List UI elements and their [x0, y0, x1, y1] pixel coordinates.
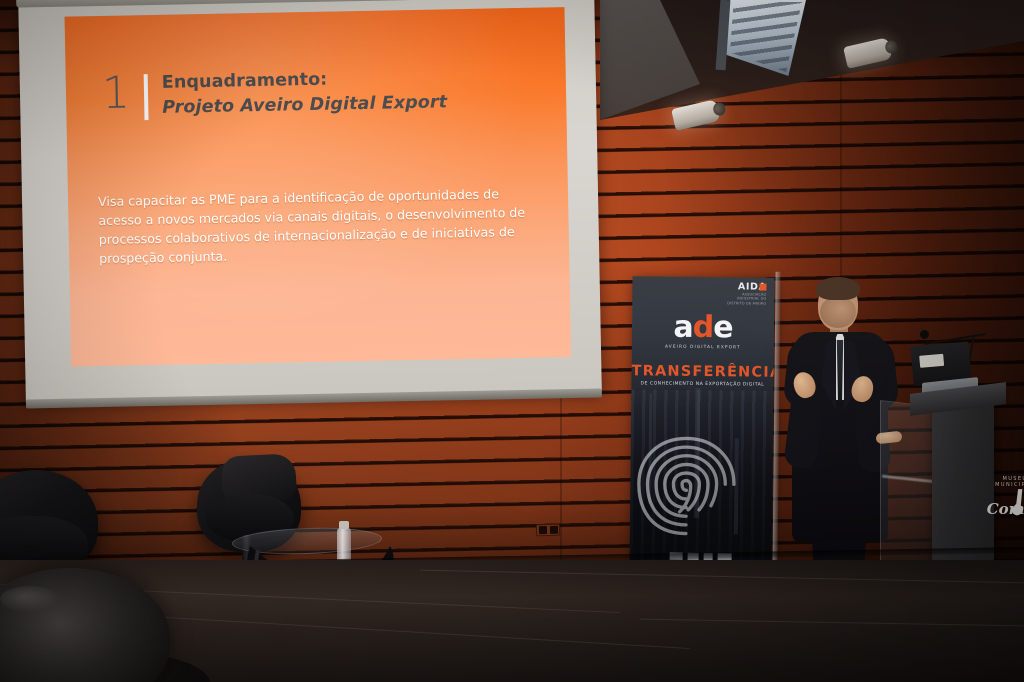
aida-partner-logo: AIDA ASSOCIAÇÃO INDUSTRIAL DO DISTRITO D…	[722, 282, 766, 306]
aida-mark-icon	[759, 284, 766, 291]
slide-title: Enquadramento: Projeto Aveiro Digital Ex…	[162, 65, 448, 121]
podium-logo: MUSEU MUNICIPAL Comur	[986, 476, 1024, 517]
slide-body-text: Visa capacitar as PME para a identificaç…	[98, 184, 535, 269]
projected-slide: 1 Enquadramento: Projeto Aveiro Digital …	[65, 7, 572, 367]
banner-headline: TRANSFERÊNCIA	[631, 364, 773, 380]
ade-logo-wordmark: ade	[632, 312, 774, 343]
speaker-face	[820, 296, 856, 328]
microphone-icon	[920, 330, 929, 339]
floor-tile-seam	[420, 570, 1024, 584]
slide-section-number: 1	[102, 71, 131, 116]
banner-headline-subtitle: DE CONHECIMENTO NA EXPORTAÇÃO DIGITAL	[631, 381, 773, 387]
ade-letter-d: d	[693, 310, 714, 345]
wall-socket[interactable]	[536, 524, 560, 537]
podium-museum-text: MUSEU MUNICIPAL	[986, 476, 1024, 488]
conference-room-photo: 1 Enquadramento: Projeto Aveiro Digital …	[0, 0, 1024, 682]
aida-logo-subtitle: ASSOCIAÇÃO INDUSTRIAL DO DISTRITO DE AVE…	[722, 292, 766, 306]
ade-logo-subtitle: AVEIRO DIGITAL EXPORT	[632, 344, 774, 350]
floor-tile-seam	[640, 619, 1024, 627]
rollup-banner: AIDA ASSOCIAÇÃO INDUSTRIAL DO DISTRITO D…	[629, 276, 774, 574]
slide-divider-rule	[144, 74, 149, 120]
floor-tile-seam	[150, 616, 689, 649]
slide-header: 1 Enquadramento: Projeto Aveiro Digital …	[102, 65, 448, 122]
ade-letter-e: e	[713, 310, 733, 345]
banner-headline-block: TRANSFERÊNCIA DE CONHECIMENTO NA EXPORTA…	[631, 364, 773, 387]
ade-logo: ade AVEIRO DIGITAL EXPORT	[632, 312, 774, 350]
slide-title-line-2: Projeto Aveiro Digital Export	[162, 91, 447, 122]
speaker-hair	[816, 277, 860, 300]
banner-face: AIDA ASSOCIAÇÃO INDUSTRIAL DO DISTRITO D…	[629, 276, 774, 574]
bottle-cap	[339, 521, 349, 529]
ade-letter-a: a	[673, 310, 693, 345]
sailboat-icon	[1006, 488, 1024, 518]
fingerprint-icon	[632, 429, 741, 538]
projection-screen: 1 Enquadramento: Projeto Aveiro Digital …	[18, 0, 602, 401]
